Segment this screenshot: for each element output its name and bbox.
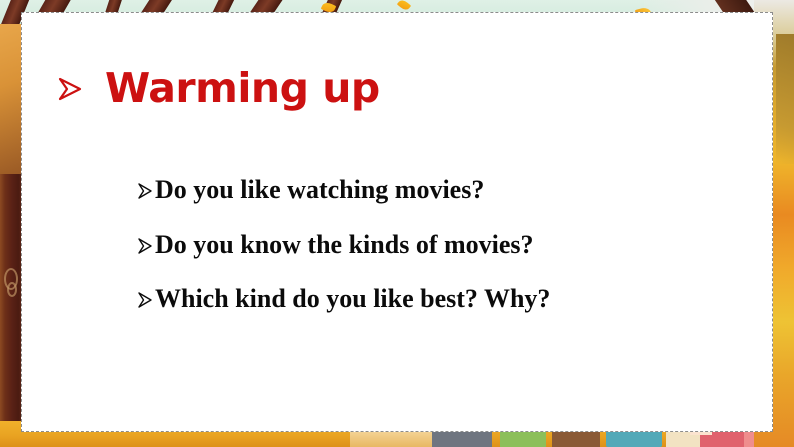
tree-trunk-highlight bbox=[0, 24, 22, 174]
question-text: Which kind do you like best? Why? bbox=[155, 285, 550, 314]
arrow-bullet-red-icon bbox=[57, 76, 83, 102]
list-item: Do you know the kinds of movies? bbox=[137, 231, 697, 260]
arrow-bullet-black-icon bbox=[137, 182, 153, 200]
list-item: Which kind do you like best? Why? bbox=[137, 285, 697, 314]
arrow-bullet-black-icon bbox=[137, 237, 153, 255]
slide-canvas: Warming up Do you like watching movies? … bbox=[0, 0, 794, 447]
question-text: Do you know the kinds of movies? bbox=[155, 231, 534, 260]
right-band-shadow bbox=[776, 34, 794, 164]
slide-title: Warming up bbox=[57, 68, 380, 109]
question-list: Do you like watching movies? Do you know… bbox=[137, 176, 697, 314]
trunk-knot-icon bbox=[7, 282, 17, 297]
page-title: Warming up bbox=[105, 68, 380, 109]
arrow-bullet-black-icon bbox=[137, 291, 153, 309]
content-card: Warming up Do you like watching movies? … bbox=[21, 12, 773, 432]
question-text: Do you like watching movies? bbox=[155, 176, 484, 205]
list-item: Do you like watching movies? bbox=[137, 176, 697, 205]
